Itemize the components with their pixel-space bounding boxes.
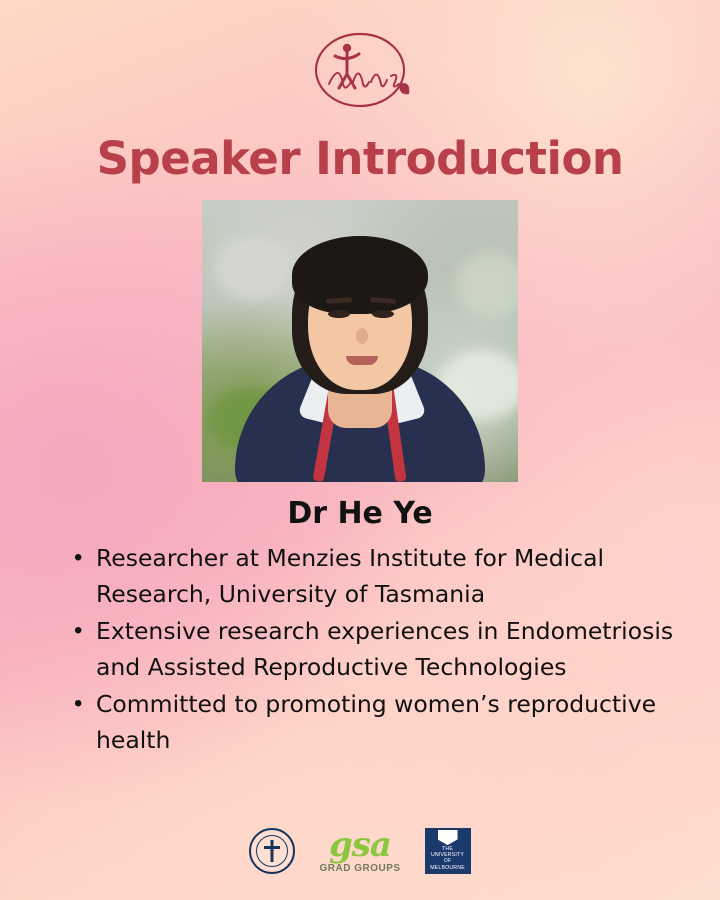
utas-seal-inner-icon — [256, 835, 288, 867]
list-item-text: Extensive research experiences in Endome… — [96, 613, 674, 685]
photo-bokeh-leaf — [456, 252, 518, 318]
nose — [356, 328, 368, 344]
speaker-bio-list: • Researcher at Menzies Institute for Me… — [74, 540, 674, 759]
eye-right — [372, 310, 394, 318]
utas-logo — [249, 828, 295, 874]
university-of-melbourne-logo: THE UNIVERSITY OF MELBOURNE — [425, 828, 471, 874]
footer-logo-row: gsa GRAD GROUPS THE UNIVERSITY OF MELBOU… — [0, 828, 720, 874]
unimelb-line1: THE UNIVERSITY OF — [429, 847, 467, 864]
eye-left — [328, 310, 350, 318]
page-title: Speaker Introduction — [0, 132, 720, 185]
utas-seal-icon — [249, 828, 295, 874]
speaker-introduction-poster: Speaker Introduction Dr He Ye — [0, 0, 720, 900]
unimelb-crest-icon — [438, 830, 458, 845]
brand-logo-area — [0, 24, 720, 114]
list-item-text: Committed to promoting women’s reproduct… — [96, 686, 674, 758]
list-item: • Committed to promoting women’s reprodu… — [74, 686, 674, 758]
gsa-grad-groups-logo: gsa GRAD GROUPS — [319, 828, 400, 874]
unimelb-line2: MELBOURNE — [430, 866, 465, 872]
bullet-icon: • — [74, 540, 96, 576]
speaker-name: Dr He Ye — [0, 496, 720, 531]
list-item: • Extensive research experiences in Endo… — [74, 613, 674, 685]
unimelb-badge: THE UNIVERSITY OF MELBOURNE — [425, 828, 471, 874]
bullet-icon: • — [74, 613, 96, 649]
list-item: • Researcher at Menzies Institute for Me… — [74, 540, 674, 612]
gsa-subtitle: GRAD GROUPS — [319, 864, 400, 874]
mouth — [346, 356, 378, 365]
speaker-photo-image — [202, 200, 518, 482]
ahhsa-logo — [295, 26, 425, 112]
speaker-photo — [202, 200, 518, 482]
gsa-wordmark: gsa — [329, 828, 391, 862]
photo-bokeh-leaf — [214, 236, 290, 300]
list-item-text: Researcher at Menzies Institute for Medi… — [96, 540, 674, 612]
bullet-icon: • — [74, 686, 96, 722]
